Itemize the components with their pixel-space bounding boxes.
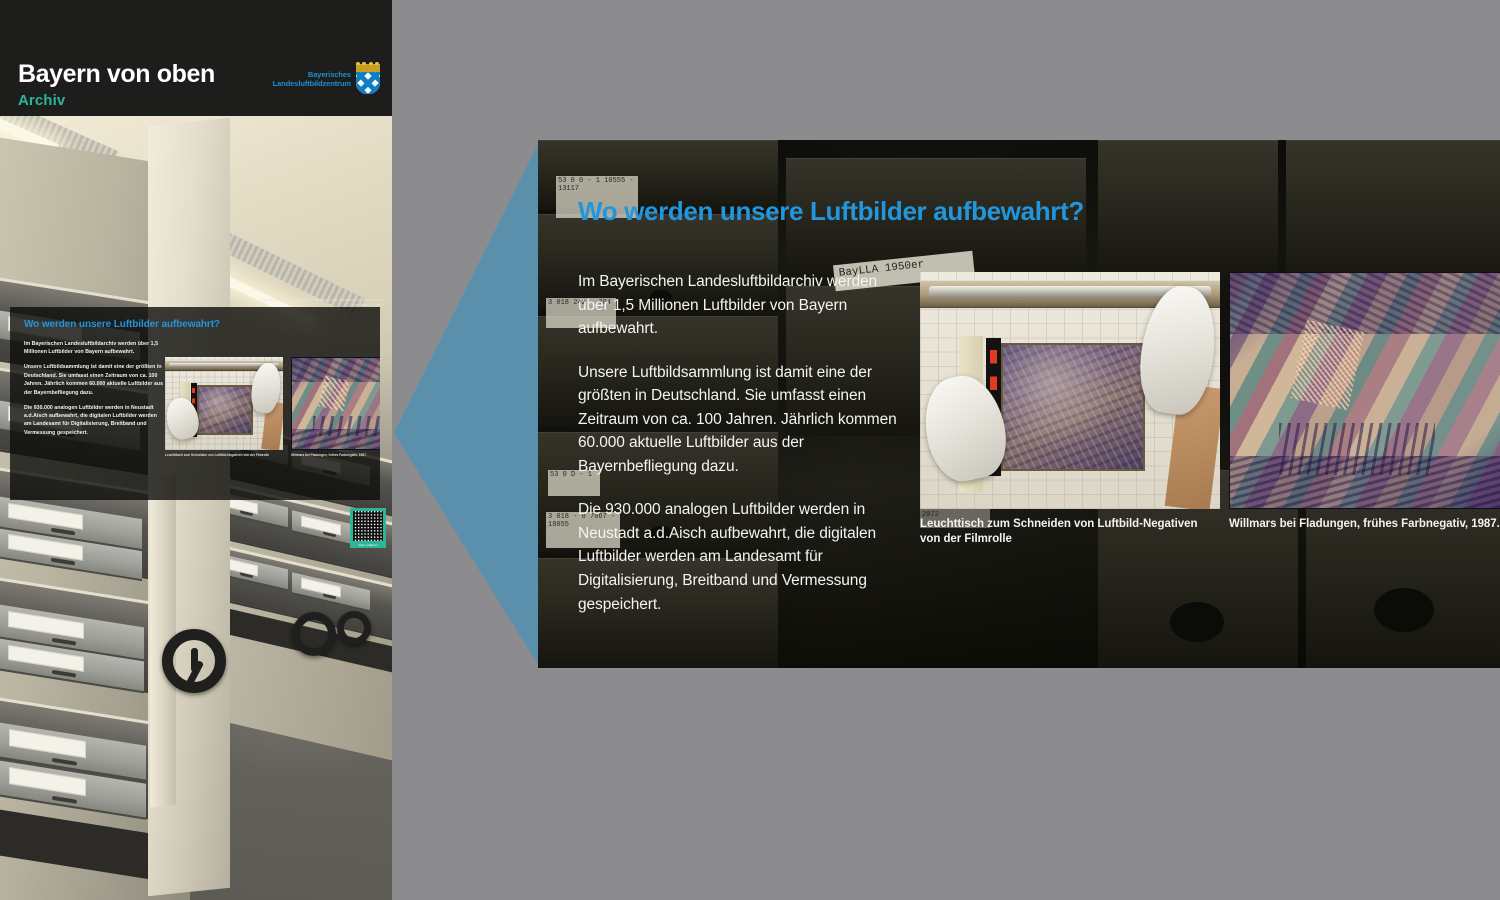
figure-caption: Leuchttisch zum Schneiden von Luftbild-N… [920, 517, 1220, 548]
zoom-connector-wedge [394, 140, 540, 668]
shelving-handwheel [162, 629, 226, 693]
screenshot-stage: Luftbildarchiv im Landesamt für Digitali… [0, 0, 1500, 900]
enlarged-content-panel: 53 0 0 - 1 10555 - 13117 3 018 242 - 784… [538, 140, 1500, 668]
page-title: Bayern von oben [18, 60, 215, 89]
mini-figure-caption: Willmars bei Fladungen, frühes Farbnegat… [291, 453, 380, 457]
mini-heading: Wo werden unsere Luftbilder aufbewahrt? [24, 319, 366, 330]
poster-panel: Luftbildarchiv im Landesamt für Digitali… [0, 0, 392, 900]
light-table-photo[interactable] [920, 272, 1220, 509]
figure-caption: Willmars bei Fladungen, frühes Farbnegat… [1229, 517, 1500, 532]
mini-paragraph: Die 930.000 analogen Luftbilder werden i… [24, 404, 164, 438]
figure-light-table: Leuchttisch zum Schneiden von Luftbild-N… [920, 272, 1220, 548]
mini-figure-row: Leuchttisch zum Schneiden von Luftbild-N… [165, 357, 380, 457]
shelving-handwheel [292, 612, 336, 656]
logo-text: Bayerisches Landesluftbildzentrum [273, 64, 351, 89]
archive-room-photo: Luftbildarchiv im Landesamt für Digitali… [0, 116, 392, 900]
bavarian-coat-of-arms-icon [355, 64, 381, 94]
panel-paragraph: Unsere Luftbildsammlung ist damit eine d… [578, 361, 908, 479]
light-table-photo [165, 357, 283, 450]
aerial-negative-photo[interactable] [1229, 272, 1500, 509]
mini-figure-caption: Leuchttisch zum Schneiden von Luftbild-N… [165, 453, 283, 457]
mini-body-text: Im Bayerischen Landesluftbildarchiv werd… [24, 340, 164, 437]
logo-line-2: Landesluftbildzentrum [273, 80, 351, 89]
figure-aerial-negative: Willmars bei Fladungen, frühes Farbnegat… [1229, 272, 1500, 548]
mini-paragraph: Im Bayerischen Landesluftbildarchiv werd… [24, 340, 164, 357]
mini-paragraph: Unsere Luftbildsammlung ist damit eine d… [24, 363, 164, 397]
organisation-logo: Bayerisches Landesluftbildzentrum [273, 64, 381, 94]
mini-figure-aerial: Willmars bei Fladungen, frühes Farbnegat… [291, 357, 380, 457]
panel-heading: Wo werden unsere Luftbilder aufbewahrt? [578, 196, 1084, 227]
panel-paragraph: Die 930.000 analogen Luftbilder werden i… [578, 498, 908, 616]
qr-code-icon [353, 511, 383, 541]
poster-header: Bayern von oben Archiv Bayerisches Lande… [0, 0, 392, 116]
mini-figure-light-table: Leuchttisch zum Schneiden von Luftbild-N… [165, 357, 283, 457]
aerial-negative-photo [291, 357, 380, 450]
shelving-handwheel [337, 611, 371, 645]
panel-paragraph: Im Bayerischen Landesluftbildarchiv werd… [578, 270, 908, 341]
page-subtitle: Archiv [18, 92, 65, 109]
panel-body-text: Im Bayerischen Landesluftbildarchiv werd… [578, 270, 908, 636]
mini-content-panel[interactable]: Wo werden unsere Luftbilder aufbewahrt? … [10, 307, 380, 500]
panel-figure-row: Leuchttisch zum Schneiden von Luftbild-N… [920, 272, 1500, 548]
qr-code-badge[interactable]: mehr erfahren [350, 508, 386, 548]
qr-code-label: mehr erfahren [353, 543, 383, 547]
